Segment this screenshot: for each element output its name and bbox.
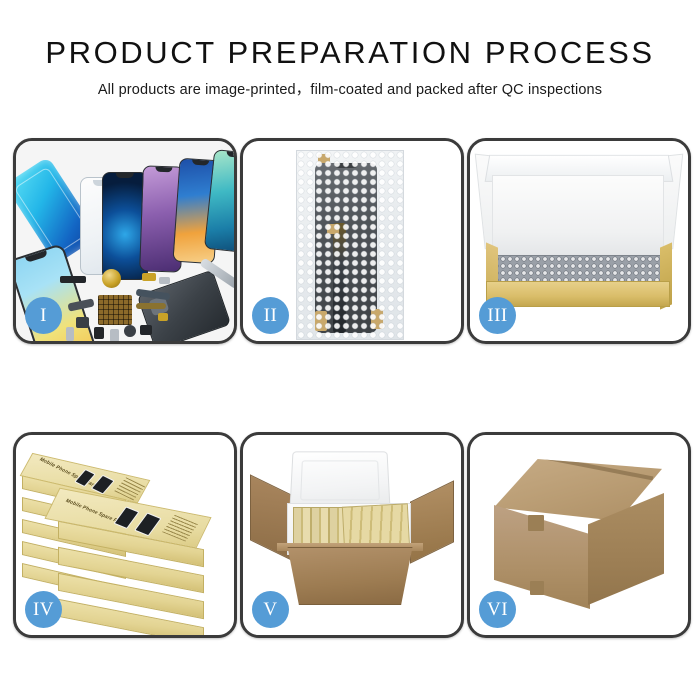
foam-sheet [492, 175, 664, 257]
process-step-panel-2: II [240, 138, 464, 344]
box-spec-lines-front [162, 515, 198, 542]
process-step-panel-3: III [467, 138, 691, 344]
small-part-5 [94, 327, 104, 339]
step-badge-4: IV [25, 591, 62, 628]
sealed-carton [488, 459, 670, 609]
box-spec-lines-rear [114, 477, 145, 500]
bubble-wrap-layer [492, 255, 664, 283]
box-screen-thumb-2 [91, 475, 115, 495]
box-front-wall [486, 281, 670, 307]
logic-board-part [98, 295, 132, 325]
bubble-wrap-bag [296, 150, 404, 340]
carton-front-wall [279, 547, 421, 605]
flex-cable-part-3 [136, 303, 166, 309]
process-step-panel-5: V [240, 432, 464, 638]
page-title: PRODUCT PREPARATION PROCESS [0, 34, 700, 72]
box-screen-thumb-3 [113, 506, 139, 529]
small-part-3 [159, 277, 170, 284]
foam-box-lid [289, 451, 390, 510]
bubble-texture [297, 151, 403, 339]
step-badge-6: VI [479, 591, 516, 628]
page-subtitle: All products are image-printed，film-coat… [0, 81, 700, 99]
small-part-8 [140, 325, 152, 335]
vibration-motor-part [102, 269, 121, 288]
page-header: PRODUCT PREPARATION PROCESS All products… [0, 34, 700, 99]
step-badge-3: III [479, 297, 516, 334]
step-badge-1: I [25, 297, 62, 334]
process-step-panel-6: VI [467, 432, 691, 638]
small-part-9 [66, 327, 74, 341]
small-part-6 [110, 329, 119, 341]
small-part-10 [158, 313, 168, 321]
box-screen-thumb-4 [134, 512, 162, 536]
step-badge-2: II [252, 297, 289, 334]
small-part-1 [60, 276, 86, 283]
process-step-panel-1: I [13, 138, 237, 344]
small-part-7 [124, 325, 136, 337]
step-badge-5: V [252, 591, 289, 628]
product-preparation-process-page: PRODUCT PREPARATION PROCESS All products… [0, 0, 700, 700]
process-step-grid: I II [13, 138, 691, 638]
carton-tape-tab-bottom [530, 581, 544, 595]
carton-tape-tab-top [528, 515, 544, 531]
process-step-panel-4: Mobile Phone Spare Parts Mobile Phone Sp… [13, 432, 237, 638]
small-part-2 [142, 273, 156, 281]
small-part-4 [76, 317, 89, 328]
